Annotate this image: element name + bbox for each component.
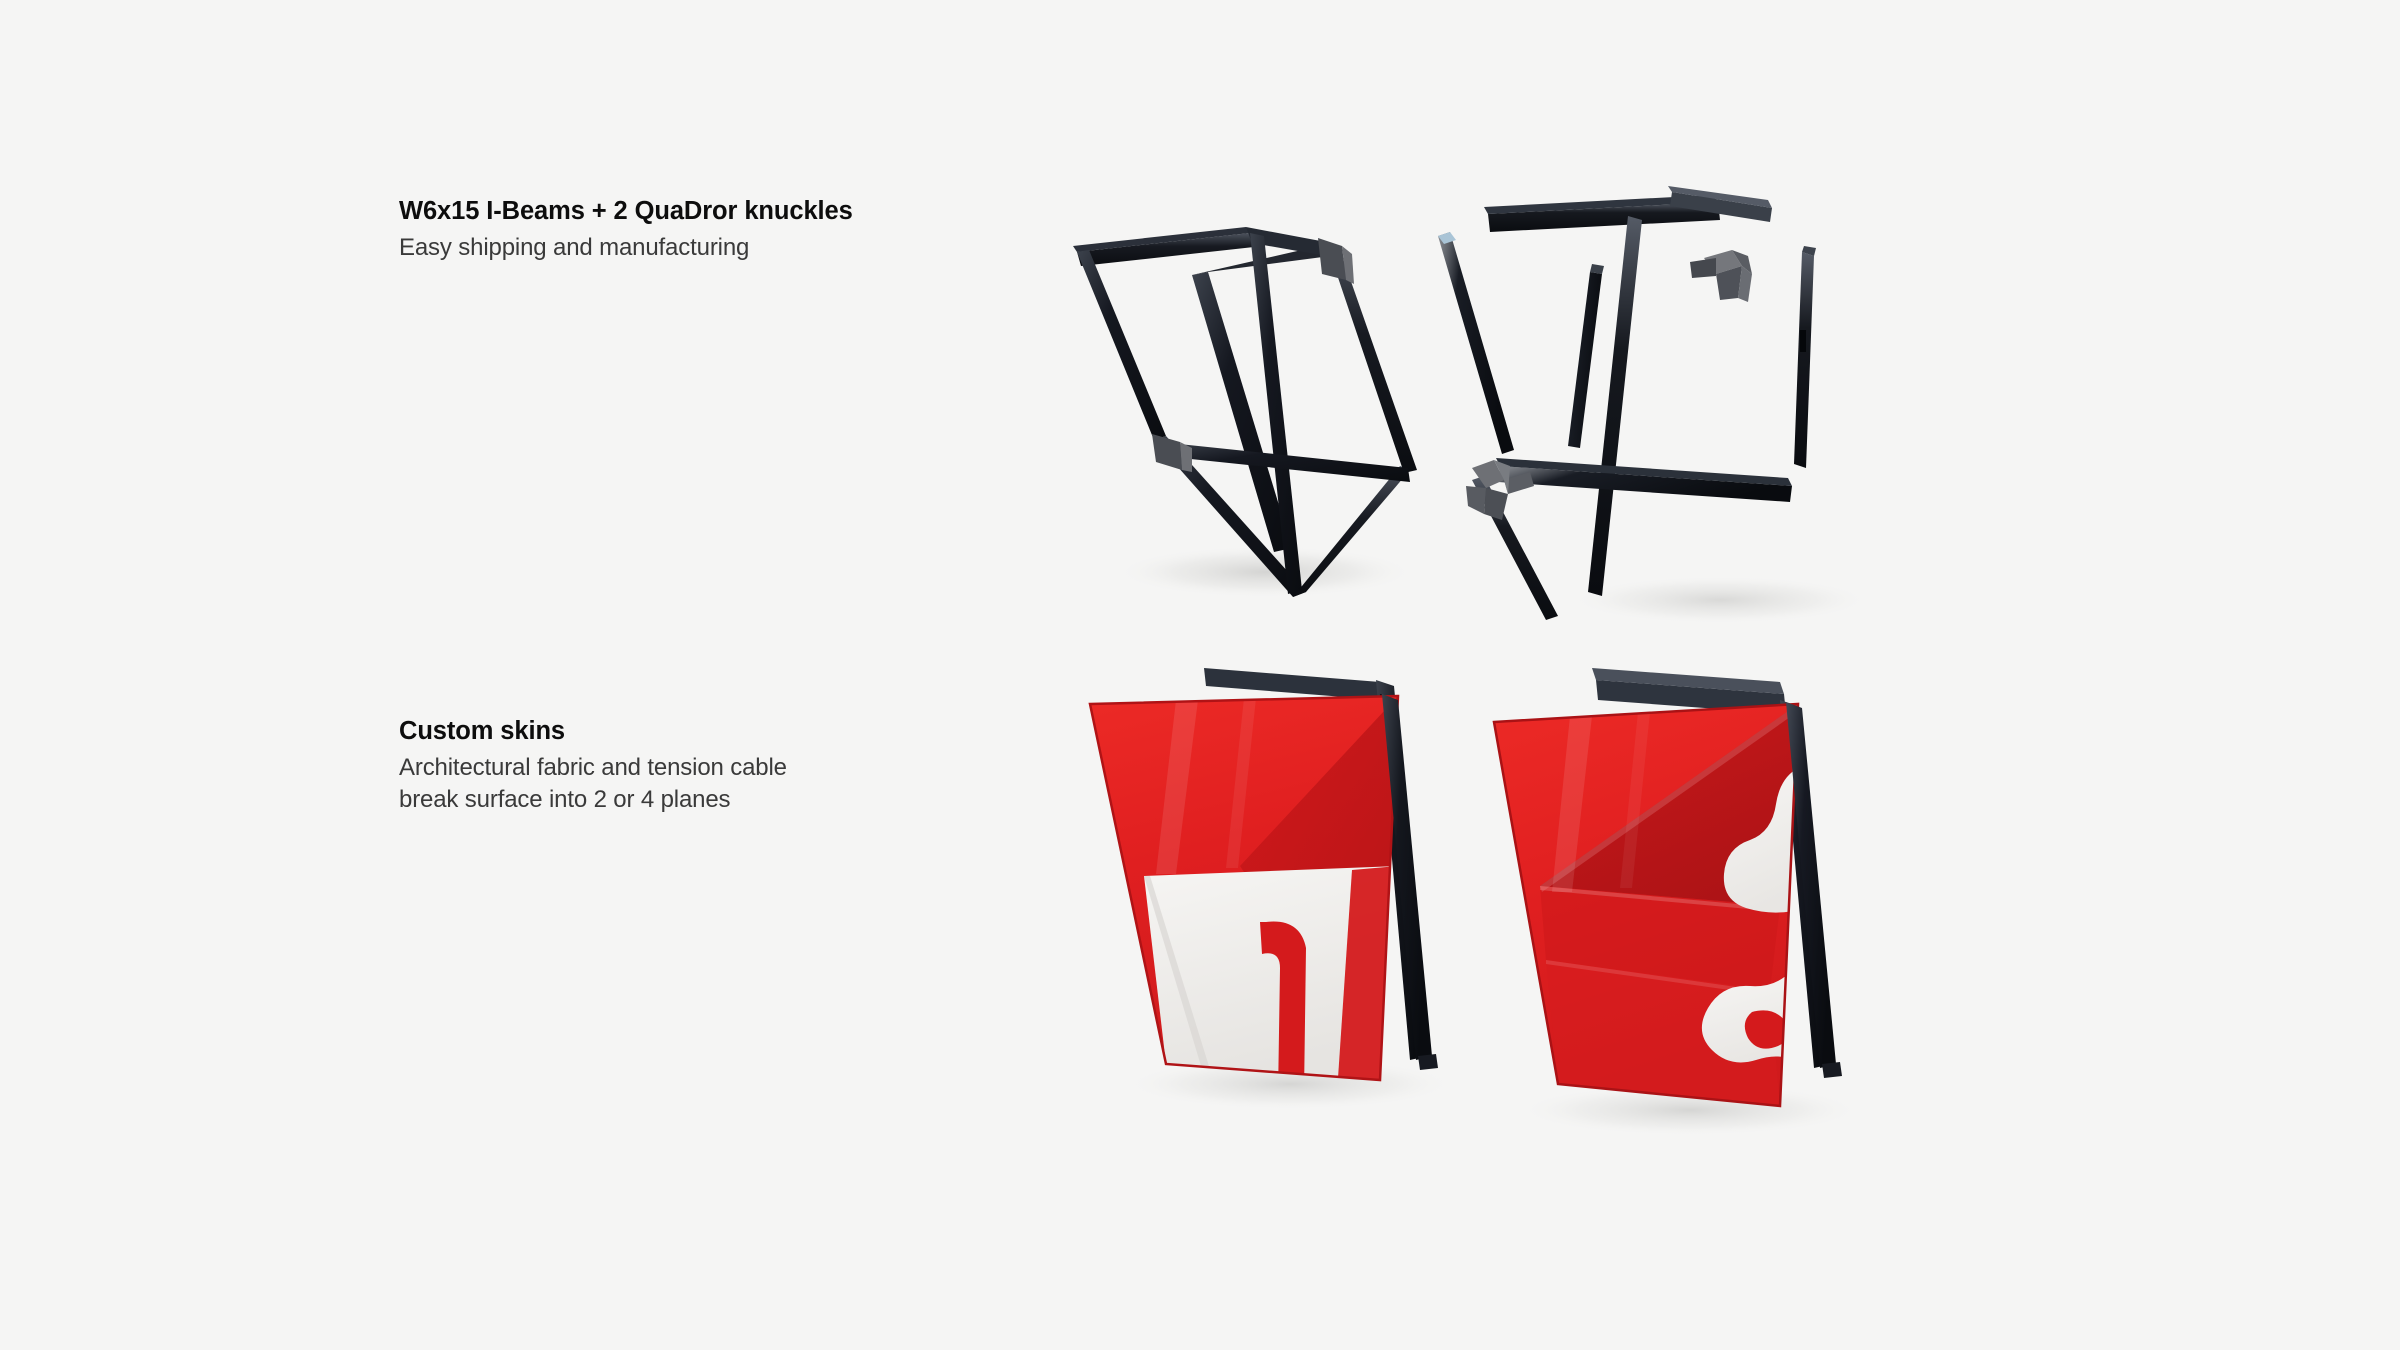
caption-body-skins: Architectural fabric and tension cable b… [399, 752, 1019, 815]
caption-block-skins: Custom skins Architectural fabric and te… [399, 716, 1019, 815]
render-exploded-beams [1480, 180, 1940, 650]
caption-body-structure: Easy shipping and manufacturing [399, 232, 1019, 264]
skin-panel [1494, 704, 1818, 1106]
beam-inner-vertical [1568, 264, 1604, 448]
knuckle-connector-upper [1690, 250, 1752, 302]
beam-right-vertical [1794, 246, 1816, 468]
render-assembled-frame [1060, 180, 1480, 640]
knuckle-joint-lower [1152, 434, 1192, 472]
caption-title-structure: W6x15 I-Beams + 2 QuaDror knuckles [399, 196, 1019, 226]
skin-panel [1090, 696, 1398, 1096]
render-skin-four-plane [1480, 660, 1950, 1150]
caption-body-line-1: Architectural fabric and tension cable [399, 752, 1019, 784]
caption-block-structure: W6x15 I-Beams + 2 QuaDror knuckles Easy … [399, 196, 1019, 264]
contact-shadow [1570, 576, 1870, 624]
render-skin-two-plane [1080, 660, 1520, 1140]
caption-title-skins: Custom skins [399, 716, 1019, 746]
beam-bottom-horizontal [1496, 458, 1792, 502]
caption-body-line-2: break surface into 2 or 4 planes [399, 784, 1019, 816]
page-canvas: W6x15 I-Beams + 2 QuaDror knuckles Easy … [0, 0, 2400, 1350]
